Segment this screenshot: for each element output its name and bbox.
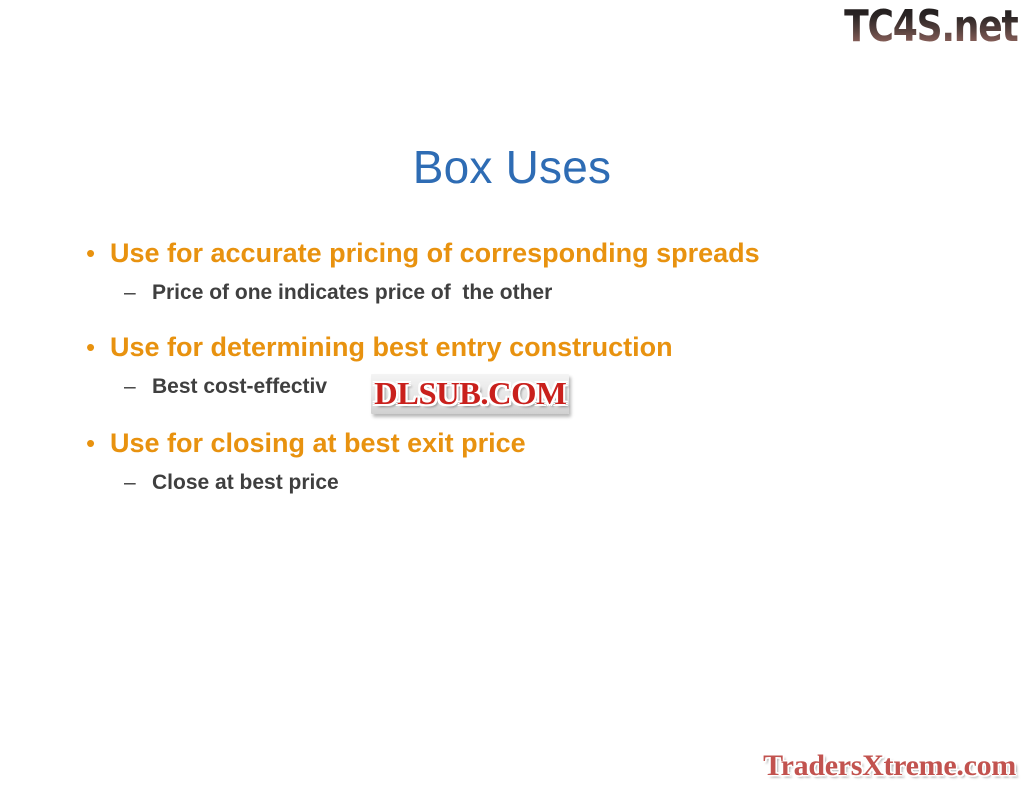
bullet-dot-icon: • — [84, 422, 110, 464]
dash-icon: – — [124, 276, 152, 310]
presentation-slide: TC4S.net Box Uses • Use for accurate pri… — [0, 0, 1024, 791]
bullet-text: Use for closing at best exit price — [110, 422, 526, 464]
list-item: – Close at best price — [124, 466, 964, 500]
bullet-text: Use for determining best entry construct… — [110, 326, 673, 368]
list-item: • Use for determining best entry constru… — [84, 326, 964, 368]
list-item: • Use for accurate pricing of correspond… — [84, 232, 964, 274]
spacer — [84, 316, 964, 326]
bullet-dot-icon: • — [84, 326, 110, 368]
sub-bullet-text: Close at best price — [152, 466, 339, 500]
list-item: • Use for closing at best exit price — [84, 422, 964, 464]
watermark-dlsub-text: DLSUB.COM — [374, 375, 566, 411]
watermark-dlsub: DLSUB.COM — [371, 374, 569, 414]
watermark-tc4s: TC4S.net — [845, 2, 1018, 52]
list-item: – Price of one indicates price of the ot… — [124, 276, 964, 310]
bullet-dot-icon: • — [84, 232, 110, 274]
bullet-list: • Use for accurate pricing of correspond… — [84, 232, 964, 506]
watermark-tradersxtreme: TradersXtreme.com — [763, 747, 1016, 785]
dash-icon: – — [124, 466, 152, 500]
bullet-text: Use for accurate pricing of correspondin… — [110, 232, 760, 274]
sub-bullet-text: Best cost-effectiv — [152, 370, 327, 404]
sub-bullet-text: Price of one indicates price of the othe… — [152, 276, 552, 310]
page-title: Box Uses — [0, 139, 1024, 195]
dash-icon: – — [124, 370, 152, 404]
